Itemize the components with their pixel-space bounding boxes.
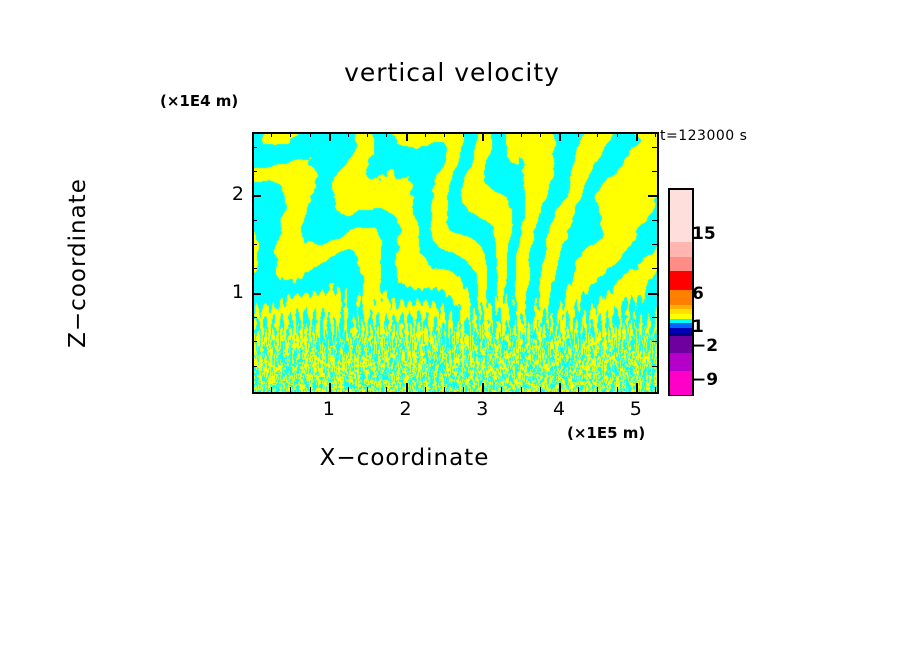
tick-mark — [386, 132, 387, 137]
tick-mark — [329, 383, 331, 392]
x-tick-label: 2 — [386, 398, 426, 420]
tick-mark — [636, 132, 638, 141]
time-annotation: t=123000 s — [660, 128, 747, 144]
tick-mark — [521, 387, 522, 392]
tick-mark — [252, 147, 257, 148]
colorbar-tick-label: −9 — [692, 370, 718, 390]
colorbar-tick-label: −2 — [692, 336, 718, 356]
x-tick-label: 1 — [309, 398, 349, 420]
tick-mark — [329, 132, 331, 141]
y-tick-label: 2 — [214, 183, 244, 205]
tick-mark — [617, 387, 618, 392]
tick-mark — [597, 387, 598, 392]
tick-mark — [386, 387, 387, 392]
x-tick-label: 5 — [616, 398, 656, 420]
tick-mark — [597, 132, 598, 137]
tick-mark — [252, 268, 257, 269]
figure-canvas: vertical velocity (×1E4 m) (×1E5 m) t=12… — [0, 0, 904, 654]
chart-title: vertical velocity — [0, 58, 904, 87]
tick-mark — [271, 132, 272, 137]
tick-mark — [425, 387, 426, 392]
tick-mark — [252, 244, 257, 245]
tick-mark — [252, 171, 257, 172]
tick-mark — [348, 387, 349, 392]
tick-mark — [540, 132, 541, 137]
tick-mark — [652, 341, 657, 342]
x-tick-label: 4 — [539, 398, 579, 420]
tick-mark — [521, 132, 522, 137]
colorbar-labels: 1561−2−9 — [668, 188, 708, 396]
tick-mark — [617, 132, 618, 137]
tick-mark — [290, 132, 291, 137]
tick-mark — [482, 383, 484, 392]
tick-mark — [463, 387, 464, 392]
tick-mark — [559, 383, 561, 392]
tick-mark — [271, 387, 272, 392]
tick-mark — [578, 387, 579, 392]
tick-mark — [501, 387, 502, 392]
x-tick-label: 3 — [462, 398, 502, 420]
y-axis-unit-label: (×1E4 m) — [160, 92, 238, 110]
colorbar-tick-label: 15 — [692, 224, 716, 244]
tick-mark — [252, 220, 257, 221]
tick-mark — [648, 195, 657, 197]
contour-plot-area — [252, 132, 659, 394]
tick-mark — [652, 147, 657, 148]
tick-mark — [367, 387, 368, 392]
tick-mark — [463, 132, 464, 137]
tick-mark — [252, 293, 261, 295]
tick-mark — [367, 132, 368, 137]
tick-mark — [652, 366, 657, 367]
tick-mark — [578, 132, 579, 137]
tick-mark — [310, 132, 311, 137]
tick-mark — [290, 387, 291, 392]
tick-mark — [501, 132, 502, 137]
tick-mark — [406, 132, 408, 141]
tick-mark — [348, 132, 349, 137]
x-axis-unit-label: (×1E5 m) — [567, 424, 645, 442]
colorbar-tick-label: 1 — [692, 317, 704, 337]
tick-mark — [444, 132, 445, 137]
x-axis-title: X−coordinate — [0, 445, 904, 471]
vertical-velocity-field — [254, 134, 657, 392]
tick-mark — [310, 387, 311, 392]
tick-mark — [406, 383, 408, 392]
tick-mark — [252, 366, 257, 367]
tick-mark — [425, 132, 426, 137]
tick-mark — [648, 293, 657, 295]
tick-mark — [655, 132, 656, 137]
tick-mark — [444, 387, 445, 392]
colorbar-tick-label: 6 — [692, 284, 704, 304]
tick-mark — [655, 387, 656, 392]
tick-mark — [636, 383, 638, 392]
tick-mark — [252, 195, 261, 197]
tick-mark — [652, 171, 657, 172]
y-tick-label: 1 — [214, 281, 244, 303]
tick-mark — [482, 132, 484, 141]
tick-mark — [652, 268, 657, 269]
tick-mark — [252, 341, 257, 342]
tick-mark — [652, 317, 657, 318]
tick-mark — [559, 132, 561, 141]
y-axis-title: Z−coordinate — [65, 128, 91, 398]
tick-mark — [652, 244, 657, 245]
tick-mark — [252, 317, 257, 318]
tick-mark — [652, 220, 657, 221]
x-axis-title-text: X−coordinate — [320, 445, 490, 471]
tick-mark — [540, 387, 541, 392]
